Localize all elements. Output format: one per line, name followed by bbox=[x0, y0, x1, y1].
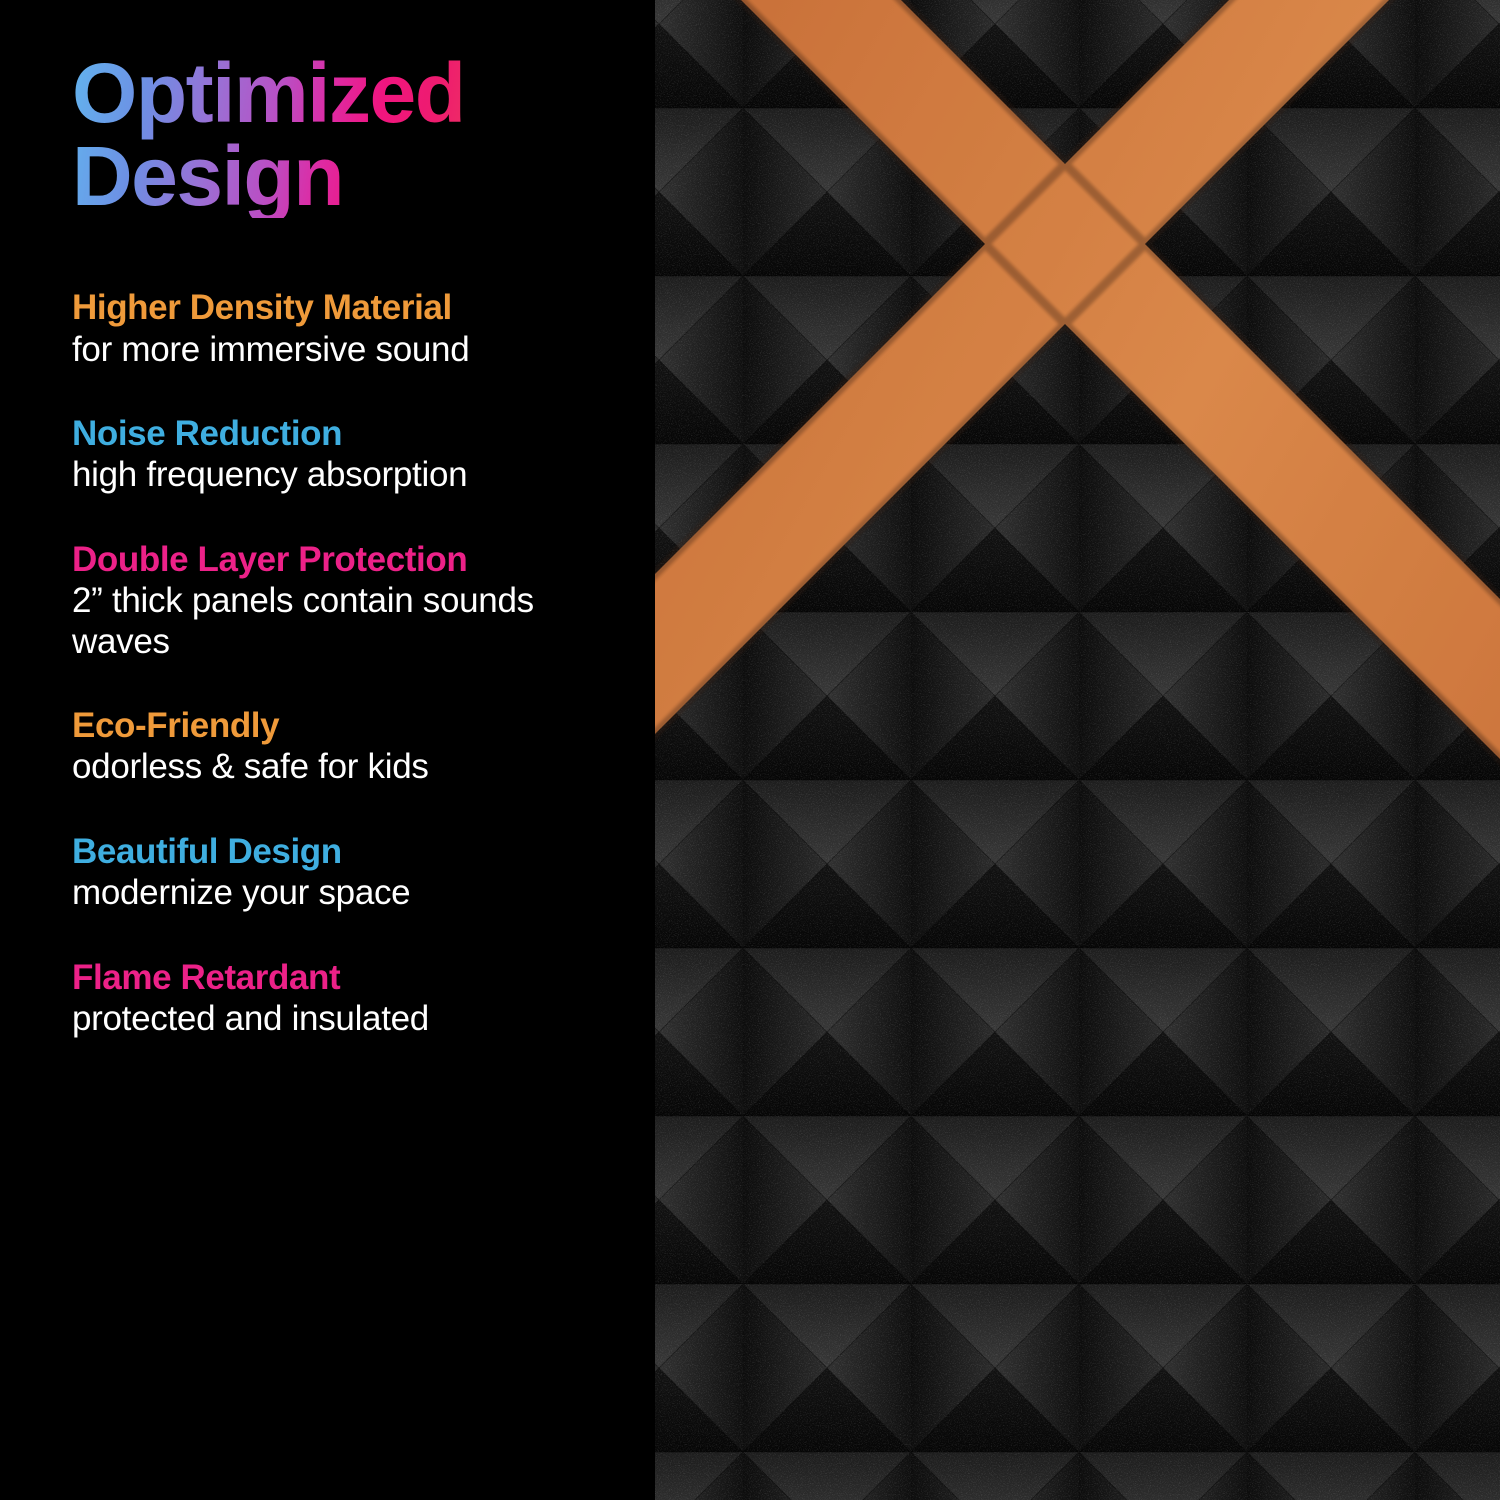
feature-heading: Double Layer Protection bbox=[72, 540, 655, 579]
feature-heading: Noise Reduction bbox=[72, 414, 655, 453]
feature-heading: Flame Retardant bbox=[72, 958, 655, 997]
feature-text-panel: Optimized Design Higher Density Material… bbox=[0, 0, 655, 1500]
feature-description: 2” thick panels contain sounds waves bbox=[72, 581, 632, 662]
feature-item: Eco-Friendlyodorless & safe for kids bbox=[72, 706, 655, 788]
title-line-2: Design bbox=[72, 135, 612, 218]
acoustic-foam-illustration bbox=[655, 0, 1500, 1500]
infographic-page: Optimized Design Higher Density Material… bbox=[0, 0, 1500, 1500]
feature-list: Higher Density Materialfor more immersiv… bbox=[72, 288, 655, 1039]
photo-vignette bbox=[655, 0, 1500, 1500]
feature-item: Higher Density Materialfor more immersiv… bbox=[72, 288, 655, 370]
feature-heading: Higher Density Material bbox=[72, 288, 655, 327]
feature-description: modernize your space bbox=[72, 873, 632, 914]
feature-heading: Eco-Friendly bbox=[72, 706, 655, 745]
title-line-1: Optimized bbox=[72, 52, 612, 135]
feature-item: Double Layer Protection2” thick panels c… bbox=[72, 540, 655, 662]
feature-heading: Beautiful Design bbox=[72, 832, 655, 871]
feature-item: Noise Reductionhigh frequency absorption bbox=[72, 414, 655, 496]
page-title: Optimized Design bbox=[72, 52, 612, 218]
feature-item: Beautiful Designmodernize your space bbox=[72, 832, 655, 914]
feature-description: protected and insulated bbox=[72, 999, 632, 1040]
feature-description: high frequency absorption bbox=[72, 455, 632, 496]
feature-item: Flame Retardantprotected and insulated bbox=[72, 958, 655, 1040]
feature-description: odorless & safe for kids bbox=[72, 747, 632, 788]
feature-description: for more immersive sound bbox=[72, 330, 632, 371]
product-photo bbox=[655, 0, 1500, 1500]
